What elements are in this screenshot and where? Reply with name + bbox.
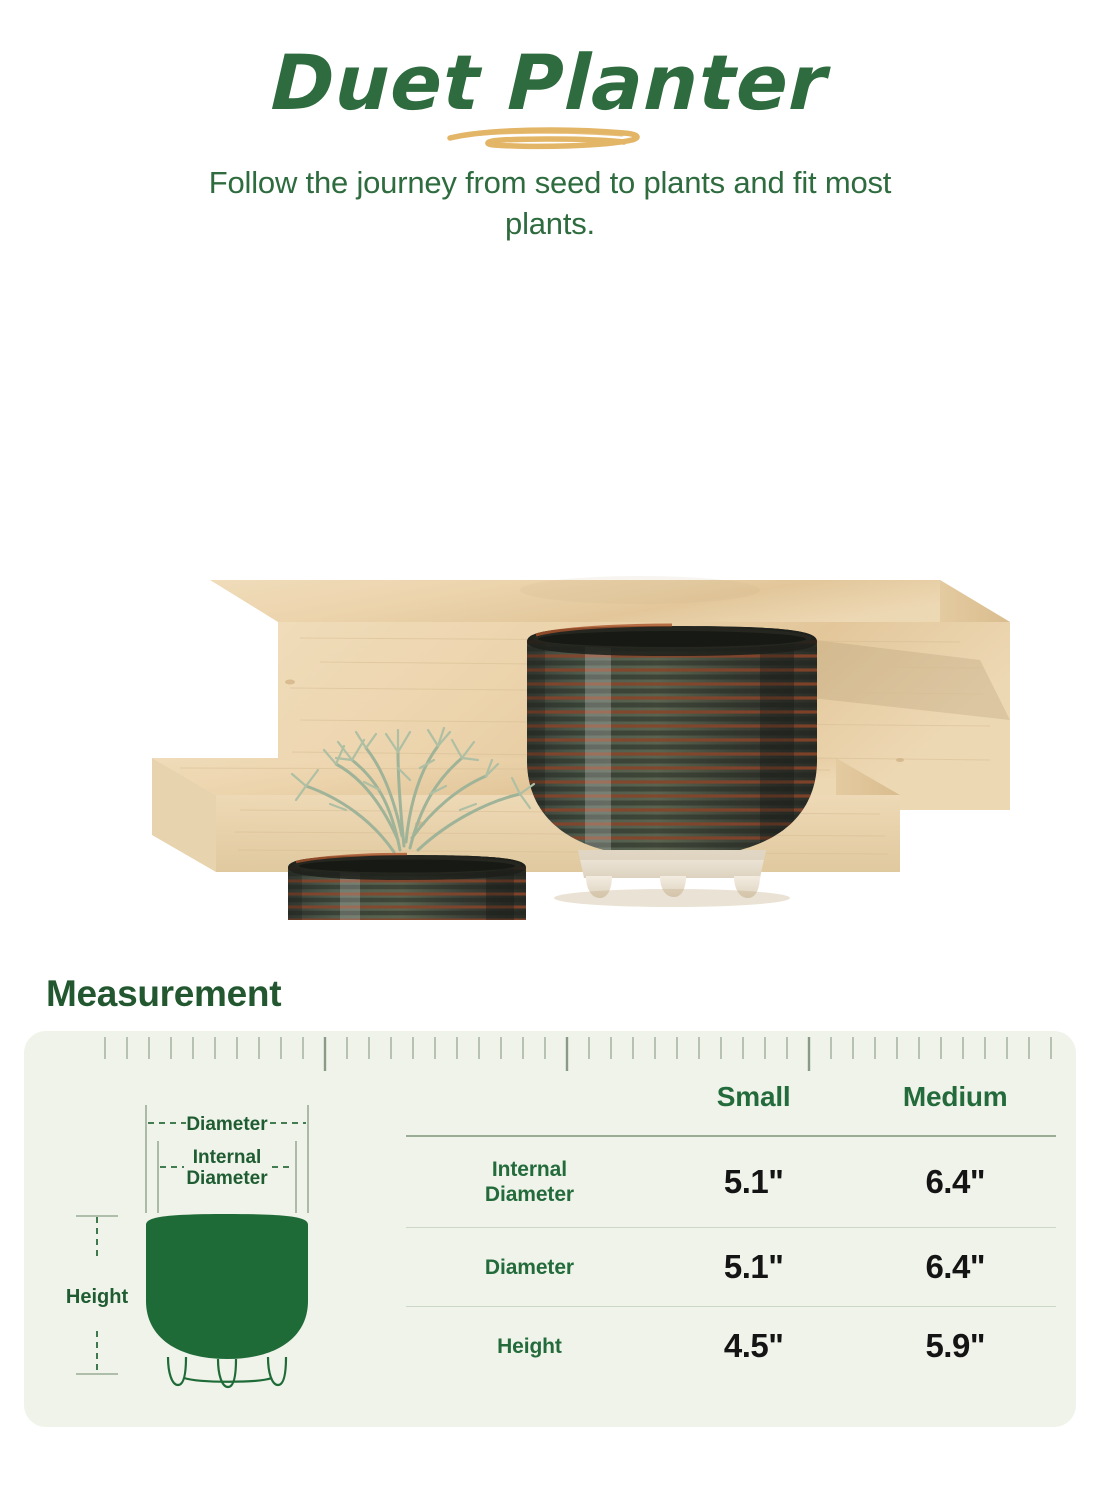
column-header-medium: Medium	[854, 1063, 1056, 1136]
measurement-table-wrap: Small Medium Internal Diameter 5.1" 6.4"…	[406, 1063, 1056, 1413]
measurement-panel: Diameter Internal Diameter Height	[24, 1031, 1076, 1427]
table-corner-cell	[406, 1063, 653, 1136]
table-row: Diameter 5.1" 6.4"	[406, 1228, 1056, 1307]
swoosh-icon	[446, 126, 646, 152]
diagram-internal-diameter-label-line1: Internal	[193, 1147, 262, 1168]
measurement-heading: Measurement	[46, 972, 281, 1016]
row-label-diameter: Diameter	[406, 1228, 653, 1307]
page-header: Duet Planter Follow the journey from see…	[0, 0, 1100, 244]
planter-small	[282, 854, 532, 920]
product-photo-illustration	[0, 290, 1100, 920]
page-title: Duet Planter	[0, 0, 1100, 124]
table-header-row: Small Medium	[406, 1063, 1056, 1136]
row-label-internal-diameter: Internal Diameter	[406, 1136, 653, 1228]
cell-internal-diameter-medium: 6.4"	[854, 1136, 1056, 1228]
measurement-table-body: Internal Diameter 5.1" 6.4" Diameter 5.1…	[406, 1136, 1056, 1385]
cell-height-medium: 5.9"	[854, 1307, 1056, 1386]
table-row: Internal Diameter 5.1" 6.4"	[406, 1136, 1056, 1228]
cell-internal-diameter-small: 5.1"	[653, 1136, 855, 1228]
row-label-height: Height	[406, 1307, 653, 1386]
product-photo	[0, 290, 1100, 920]
measurement-table-head: Small Medium	[406, 1063, 1056, 1136]
title-underline-swoosh	[0, 124, 1100, 154]
page-subtitle: Follow the journey from seed to plants a…	[180, 162, 920, 244]
column-header-small: Small	[653, 1063, 855, 1136]
diagram-internal-diameter-label-line2: Diameter	[186, 1168, 268, 1189]
cell-diameter-medium: 6.4"	[854, 1228, 1056, 1307]
table-row: Height 4.5" 5.9"	[406, 1307, 1056, 1386]
cell-height-small: 4.5"	[653, 1307, 855, 1386]
diagram-pot-silhouette	[146, 1214, 308, 1387]
planter-dimension-diagram: Diameter Internal Diameter Height	[34, 1101, 404, 1411]
diagram-diameter-label: Diameter	[186, 1114, 268, 1135]
measurement-table: Small Medium Internal Diameter 5.1" 6.4"…	[406, 1063, 1056, 1385]
diagram-height-label: Height	[66, 1286, 129, 1308]
cell-diameter-small: 5.1"	[653, 1228, 855, 1307]
row-label-line1: Internal	[492, 1158, 567, 1181]
row-label-line2: Diameter	[485, 1183, 574, 1206]
